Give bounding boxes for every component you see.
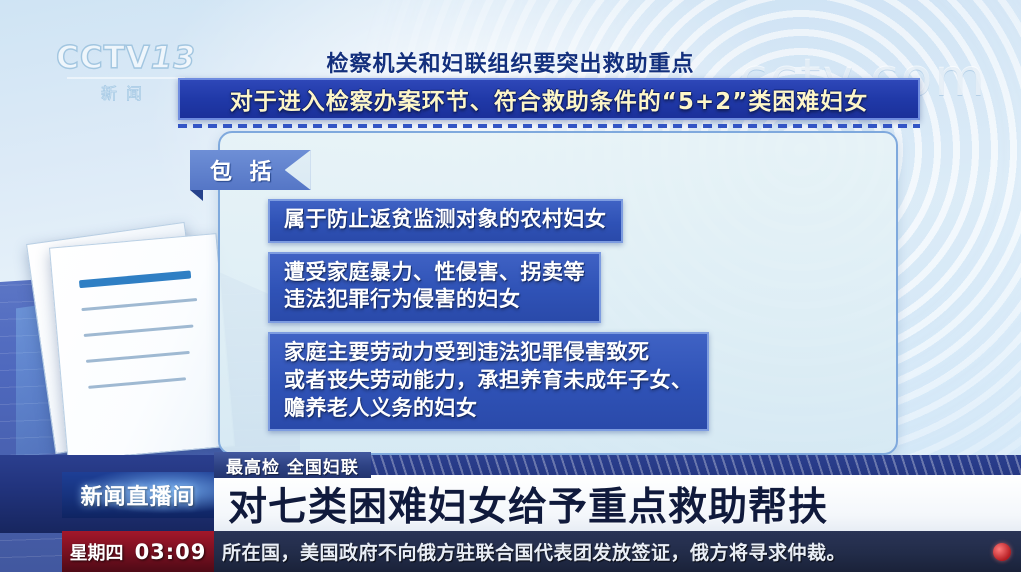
document-line <box>88 377 186 389</box>
document-line <box>84 324 194 337</box>
news-ticker: 所在国，美国政府不向俄方驻联合国代表团发放签证，俄方将寻求仲裁。 <box>214 531 1021 572</box>
criteria-list: 属于防止返贫监测对象的农村妇女 遭受家庭暴力、性侵害、拐卖等 违法犯罪行为侵害的… <box>268 199 848 440</box>
ticker-text: 所在国，美国政府不向俄方驻联合国代表团发放签证，俄方将寻求仲裁。 <box>222 538 846 565</box>
ticker-logo-icon <box>993 543 1011 561</box>
include-ribbon: 包 括 <box>190 150 311 190</box>
kicker-title: 检察机关和妇联组织要突出救助重点 <box>0 46 1021 78</box>
program-logo: 新闻直播间 <box>62 472 214 518</box>
weekday-label: 星期四 <box>70 539 124 565</box>
list-item-line: 赡养老人义务的妇女 <box>284 395 693 423</box>
source-badge-label: 最高检 全国妇联 <box>226 453 359 478</box>
decorative-document-front <box>49 233 235 461</box>
list-item-line: 遭受家庭暴力、性侵害、拐卖等 <box>284 259 585 287</box>
source-badge: 最高检 全国妇联 <box>214 452 371 478</box>
main-headline: 对七类困难妇女给予重点救助帮扶 <box>228 476 828 532</box>
list-item-line: 家庭主要劳动力受到违法犯罪侵害致死 <box>284 339 693 367</box>
include-ribbon-label: 包 括 <box>210 154 277 186</box>
clock-bar: 星期四 03:09 <box>62 531 214 572</box>
list-item: 遭受家庭暴力、性侵害、拐卖等 违法犯罪行为侵害的妇女 <box>268 252 601 323</box>
list-item-line: 属于防止返贫监测对象的农村妇女 <box>284 206 607 234</box>
list-item-line: 或者丧失劳动能力，承担养育未成年子女、 <box>284 367 693 395</box>
list-item-line: 违法犯罪行为侵害的妇女 <box>284 286 585 314</box>
headline-banner-text: 对于进入检察办案环节、符合救助条件的“5+2”类困难妇女 <box>230 82 869 116</box>
channel-logo-subtitle: 新闻 <box>56 80 196 104</box>
list-item: 家庭主要劳动力受到违法犯罪侵害致死 或者丧失劳动能力，承担养育未成年子女、 赡养… <box>268 332 709 431</box>
broadcast-screen: cctv.com CCTV13 新闻 检察机关和妇联组织要突出救助重点 对于进入… <box>0 0 1021 572</box>
document-line <box>81 298 197 311</box>
headline-banner: 对于进入检察办案环节、符合救助条件的“5+2”类困难妇女 <box>178 78 920 120</box>
dashed-divider <box>178 124 920 128</box>
list-item: 属于防止返贫监测对象的农村妇女 <box>268 199 623 243</box>
include-ribbon-tail <box>190 190 203 201</box>
clock-time: 03:09 <box>135 540 207 564</box>
document-line <box>86 351 190 363</box>
document-heading-line <box>79 270 191 288</box>
program-logo-label: 新闻直播间 <box>80 479 195 511</box>
